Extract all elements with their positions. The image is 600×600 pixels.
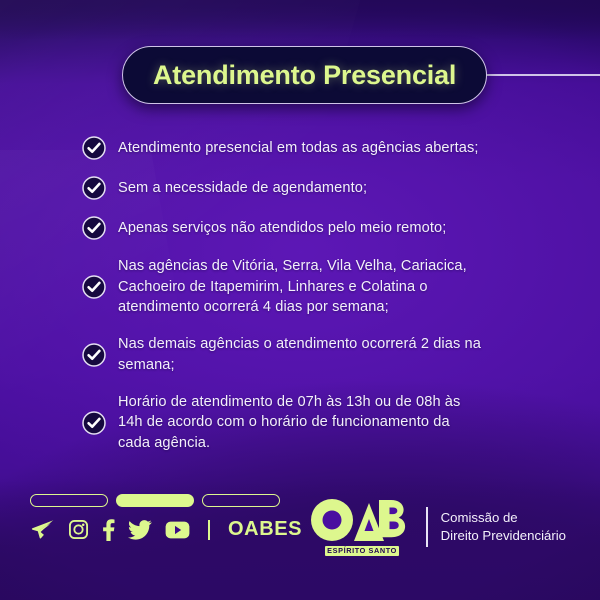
- benefits-list: Atendimento presencial em todas as agênc…: [82, 136, 548, 470]
- brand-divider: [426, 507, 428, 547]
- youtube-icon[interactable]: [165, 521, 190, 539]
- footer: OABES ESPÍRITO SANTO Comis: [0, 482, 600, 600]
- list-item-text: Sem a necessidade de agendamento;: [118, 178, 367, 199]
- instagram-icon[interactable]: [68, 519, 89, 540]
- list-item-text: Horário de atendimento de 07h às 13h ou …: [118, 392, 460, 454]
- poster-canvas: Atendimento Presencial Atendimento prese…: [0, 0, 600, 600]
- social-divider: [208, 520, 210, 540]
- title-badge: Atendimento Presencial: [122, 46, 487, 104]
- check-circle-icon: [82, 343, 106, 367]
- page-title: Atendimento Presencial: [153, 60, 456, 91]
- check-circle-icon: [82, 176, 106, 200]
- check-circle-icon: [82, 136, 106, 160]
- social-links: OABES: [31, 518, 302, 541]
- list-item: Horário de atendimento de 07h às 13h ou …: [82, 392, 548, 454]
- list-item: Atendimento presencial em todas as agênc…: [82, 136, 548, 160]
- facebook-icon[interactable]: [102, 519, 115, 541]
- check-circle-icon: [82, 275, 106, 299]
- list-item: Apenas serviços não atendidos pelo meio …: [82, 216, 548, 240]
- list-item-text: Atendimento presencial em todas as agênc…: [118, 138, 479, 159]
- header-rule: [486, 74, 600, 76]
- telegram-icon[interactable]: [31, 519, 55, 541]
- commission-name: Comissão de Direito Previdenciário: [441, 509, 566, 544]
- pill-outline-1: [30, 494, 108, 507]
- social-handle: OABES: [228, 518, 302, 541]
- list-item: Nas demais agências o atendimento ocorre…: [82, 334, 548, 375]
- list-item: Nas agências de Vitória, Serra, Vila Vel…: [82, 256, 548, 318]
- check-circle-icon: [82, 411, 106, 435]
- header: Atendimento Presencial: [0, 46, 600, 104]
- oab-logo-subtitle: ESPÍRITO SANTO: [325, 546, 399, 556]
- brand-lockup: ESPÍRITO SANTO Comissão de Direito Previ…: [309, 498, 566, 555]
- decorative-pill-group: [30, 494, 280, 507]
- pill-filled: [116, 494, 194, 507]
- check-circle-icon: [82, 216, 106, 240]
- oab-logo: ESPÍRITO SANTO: [309, 498, 413, 555]
- list-item-text: Apenas serviços não atendidos pelo meio …: [118, 218, 446, 239]
- list-item-text: Nas demais agências o atendimento ocorre…: [118, 334, 481, 375]
- list-item-text: Nas agências de Vitória, Serra, Vila Vel…: [118, 256, 467, 318]
- twitter-icon[interactable]: [128, 520, 152, 540]
- background-top-band: [0, 0, 600, 40]
- list-item: Sem a necessidade de agendamento;: [82, 176, 548, 200]
- pill-outline-2: [202, 494, 280, 507]
